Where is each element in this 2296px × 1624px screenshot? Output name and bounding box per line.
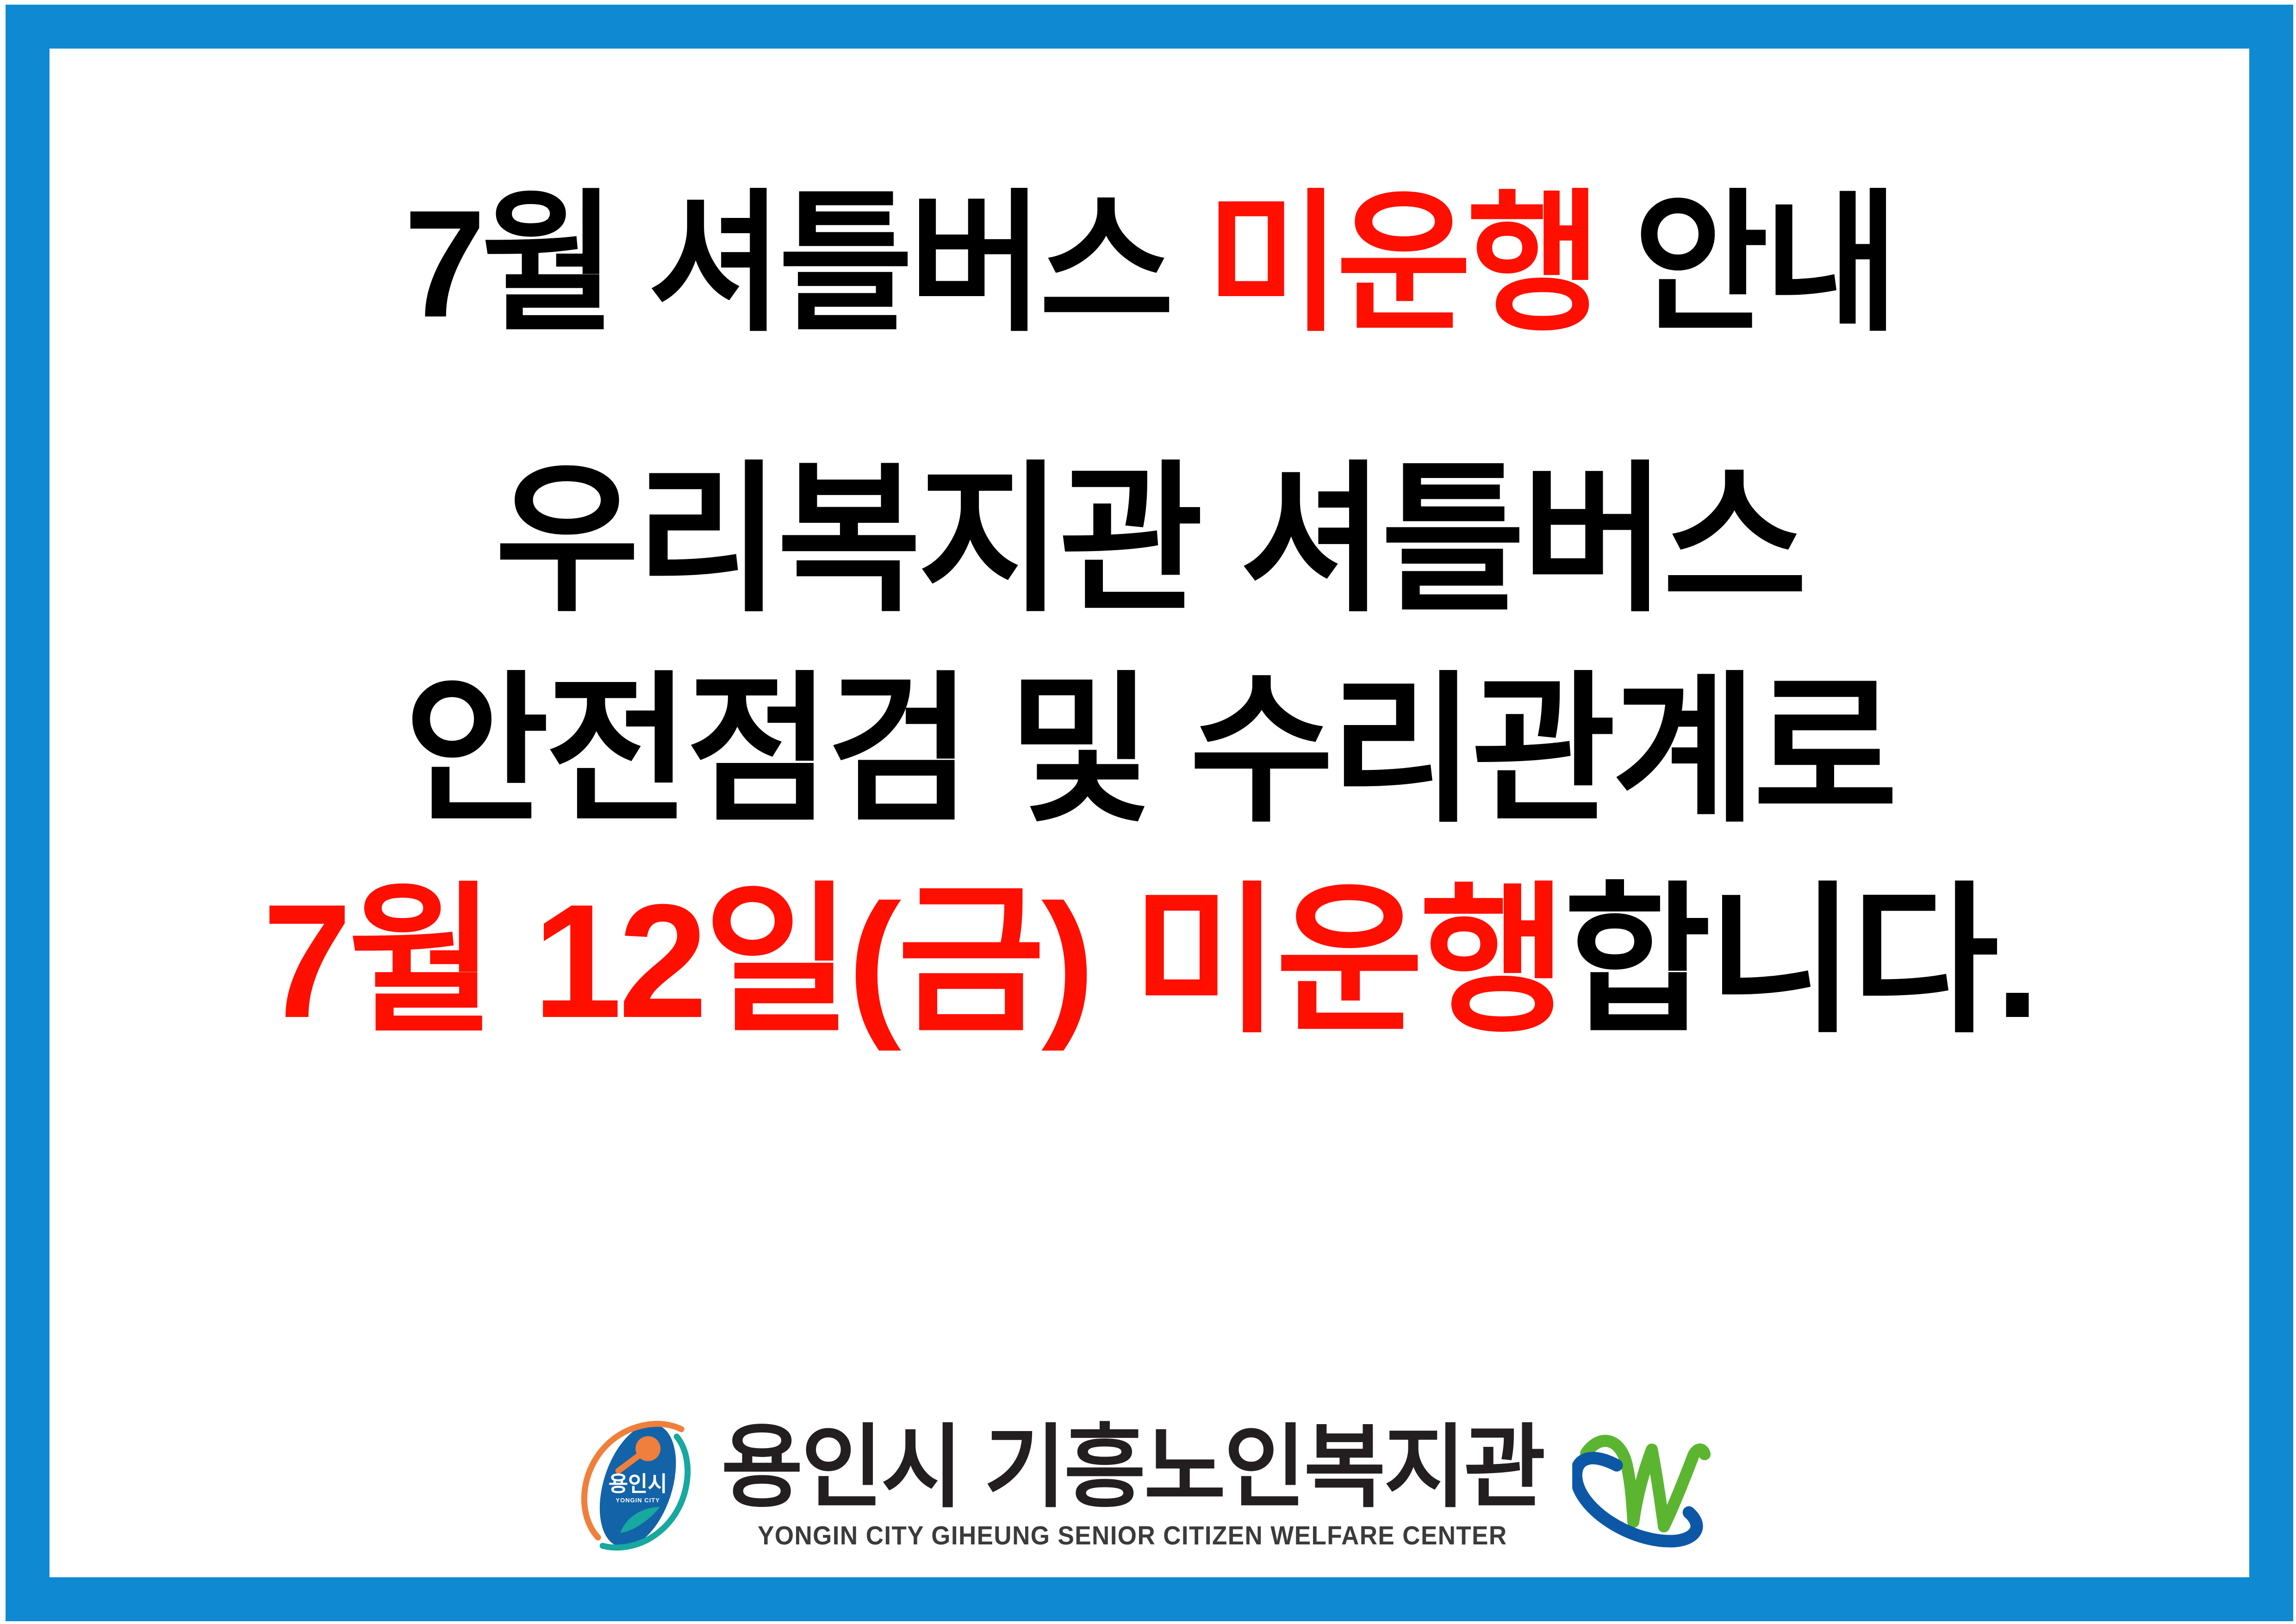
page-title: 7월 셔틀버스 미운행 안내 (404, 187, 1894, 340)
poster-inner-sheet: 7월 셔틀버스 미운행 안내 우리복지관 셔틀버스 안전점검 및 수리관계로 7… (50, 49, 2249, 1577)
notice-poster: 7월 셔틀버스 미운행 안내 우리복지관 셔틀버스 안전점검 및 수리관계로 7… (0, 0, 2296, 1624)
yongin-city-emblem-icon: 용인시 YONGIN CITY (574, 1416, 699, 1555)
logo-english-name: YONGIN CITY GIHEUNG SENIOR CITIZEN WELFA… (758, 1520, 1507, 1551)
headline-highlight-non-operation: 미운행 (1206, 178, 1598, 349)
logo-wordmark: 용인시 기흥노인복지관 YONGIN CITY GIHEUNG SENIOR C… (713, 1420, 1552, 1551)
svg-text:YONGIN CITY: YONGIN CITY (616, 1497, 660, 1504)
headline-part-2: 안내 (1598, 178, 1895, 349)
body-line-3: 7월 12일(금) 미운행합니다. (262, 856, 2036, 1066)
poster-blue-border: 7월 셔틀버스 미운행 안내 우리복지관 셔틀버스 안전점검 및 수리관계로 7… (6, 5, 2293, 1621)
welfare-w-mark-icon (1572, 1421, 1725, 1550)
body-line-3-tail: 합니다. (1564, 871, 2036, 1052)
body-line-3-date-highlight: 7월 12일(금) 미운행 (262, 871, 1563, 1052)
body-line-2: 안전점검 및 수리관계로 (280, 645, 2018, 856)
notice-body: 우리복지관 셔틀버스 안전점검 및 수리관계로 7월 12일(금) 미운행합니다… (254, 435, 2045, 1066)
body-line-1: 우리복지관 셔틀버스 (280, 435, 2018, 645)
organization-logo: 용인시 YONGIN CITY 용인시 기흥노인복지관 YONGIN CITY … (574, 1416, 1725, 1555)
headline-part-1: 7월 셔틀버스 (404, 178, 1206, 349)
emblem-label: 용인시 (608, 1472, 667, 1496)
logo-korean-name: 용인시 기흥노인복지관 (721, 1420, 1543, 1515)
